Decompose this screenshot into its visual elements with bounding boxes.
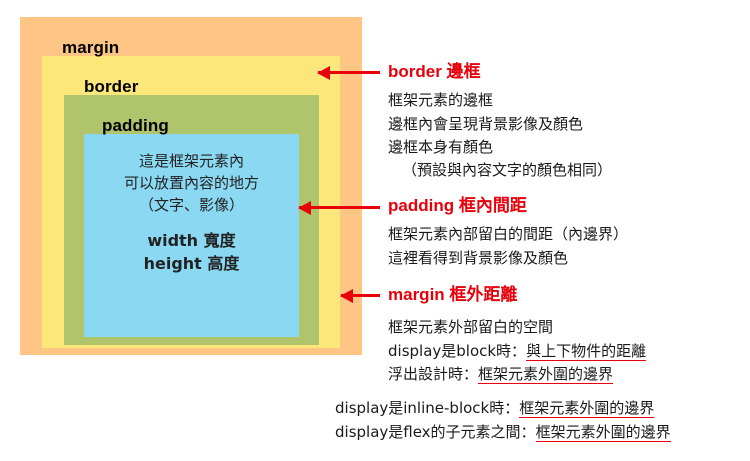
margin-arrow-icon [341, 294, 380, 297]
note-margin-line-1: 框架元素外部留白的空間 [388, 316, 646, 339]
note-margin-title: margin 框外距離 [388, 285, 646, 305]
note-margin-body: 框架元素外部留白的空間 display是block時：與上下物件的距離 浮出設計… [388, 316, 646, 386]
note-padding-body: 框架元素內部留白的間距（內邊界） 這裡看得到背景影像及顏色 [388, 223, 628, 270]
note-border-line-3: 邊框本身有顏色 [388, 136, 612, 159]
note-display-inline-block-underlined: 框架元素外圍的邊界 [519, 399, 654, 418]
note-display-inline-block: display是inline-block時：框架元素外圍的邊界 [335, 396, 671, 420]
content-line-2: 可以放置內容的地方 [124, 173, 259, 195]
border-layer-label: border [84, 78, 319, 95]
note-margin-line-2-prefix: display是block時： [388, 342, 526, 360]
note-margin: margin 框外距離 框架元素外部留白的空間 display是block時：與… [388, 285, 646, 386]
note-padding: padding 框內間距 框架元素內部留白的間距（內邊界） 這裡看得到背景影像及… [388, 196, 628, 270]
note-border-body: 框架元素的邊框 邊框內會呈現背景影像及顏色 邊框本身有顏色 （預設與內容文字的顏… [388, 89, 612, 182]
note-padding-line-1: 框架元素內部留白的間距（內邊界） [388, 223, 628, 246]
content-layer: 這是框架元素內 可以放置內容的地方 （文字、影像） width 寬度 heigh… [84, 134, 299, 337]
border-layer: border padding 這是框架元素內 可以放置內容的地方 （文字、影像）… [42, 56, 340, 348]
note-display-modes: display是inline-block時：框架元素外圍的邊界 display是… [335, 396, 671, 444]
note-display-flex: display是flex的子元素之間：框架元素外圍的邊界 [335, 420, 671, 444]
content-height-label: height 高度 [144, 253, 240, 276]
note-margin-line-3-underlined: 框架元素外圍的邊界 [478, 365, 613, 384]
padding-layer-label: padding [102, 117, 299, 134]
note-display-flex-prefix: display是flex的子元素之間： [335, 423, 536, 441]
note-margin-line-2: display是block時：與上下物件的距離 [388, 340, 646, 363]
border-arrow-icon [318, 71, 380, 74]
note-border-line-2: 邊框內會呈現背景影像及顏色 [388, 113, 612, 136]
note-border-line-4: （預設與內容文字的顏色相同） [388, 159, 612, 182]
note-margin-line-3: 浮出設計時：框架元素外圍的邊界 [388, 363, 646, 386]
note-border: border 邊框 框架元素的邊框 邊框內會呈現背景影像及顏色 邊框本身有顏色 … [388, 62, 612, 182]
note-margin-line-2-underlined: 與上下物件的距離 [526, 342, 646, 361]
box-model-diagram: margin border padding 這是框架元素內 可以放置內容的地方 … [20, 17, 362, 355]
note-margin-line-3-prefix: 浮出設計時： [388, 365, 478, 383]
content-line-3: （文字、影像） [139, 195, 244, 217]
note-padding-line-2: 這裡看得到背景影像及顏色 [388, 247, 628, 270]
note-display-inline-block-prefix: display是inline-block時： [335, 399, 519, 417]
note-border-title: border 邊框 [388, 62, 612, 82]
content-line-1: 這是框架元素內 [139, 151, 244, 173]
note-display-flex-underlined: 框架元素外圍的邊界 [536, 423, 671, 442]
note-border-line-1: 框架元素的邊框 [388, 89, 612, 112]
content-dimensions: width 寬度 height 高度 [144, 230, 240, 275]
margin-layer-label: margin [62, 39, 340, 56]
padding-layer: padding 這是框架元素內 可以放置內容的地方 （文字、影像） width … [64, 95, 319, 345]
content-width-label: width 寬度 [144, 230, 240, 253]
padding-arrow-icon [299, 206, 380, 209]
note-padding-title: padding 框內間距 [388, 196, 628, 216]
